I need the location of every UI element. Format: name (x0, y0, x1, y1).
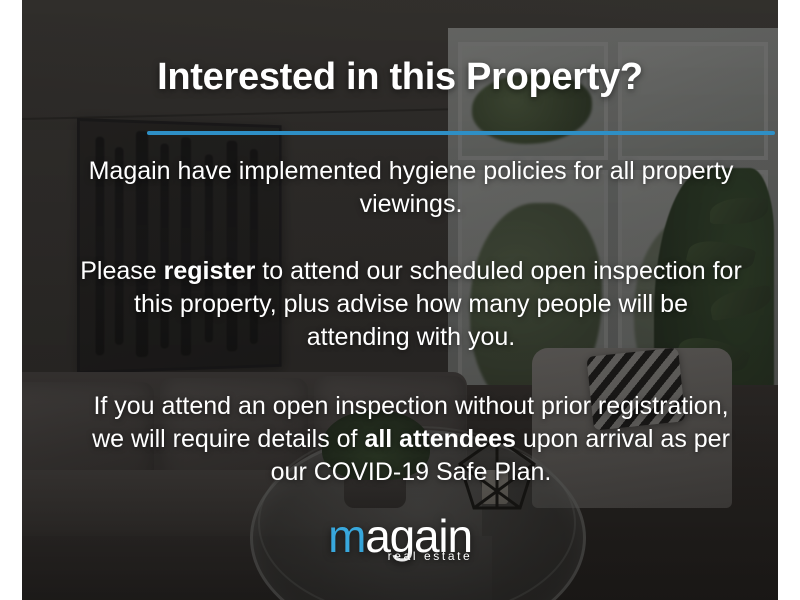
logo-first-letter: m (328, 510, 365, 562)
paragraph-hygiene-policies: Magain have implemented hygiene policies… (80, 155, 742, 221)
emphasised-text: all attendees (364, 425, 515, 453)
emphasised-text: register (164, 257, 256, 285)
paragraph-attendee-details: If you attend an open inspection without… (80, 390, 742, 489)
magain-logo: magain real estate (0, 513, 800, 562)
accent-divider (147, 131, 775, 135)
paragraph-text: Magain have implemented hygiene policies… (89, 157, 734, 218)
property-inspection-poster: Interested in this Property? Magain have… (0, 0, 800, 600)
paragraph-register-request: Please register to attend our scheduled … (80, 255, 742, 354)
paragraph-text: Please (80, 257, 163, 285)
logo-tagline: real estate (0, 550, 800, 562)
page-title: Interested in this Property? (0, 56, 800, 99)
poster-content: Interested in this Property? Magain have… (0, 0, 800, 600)
